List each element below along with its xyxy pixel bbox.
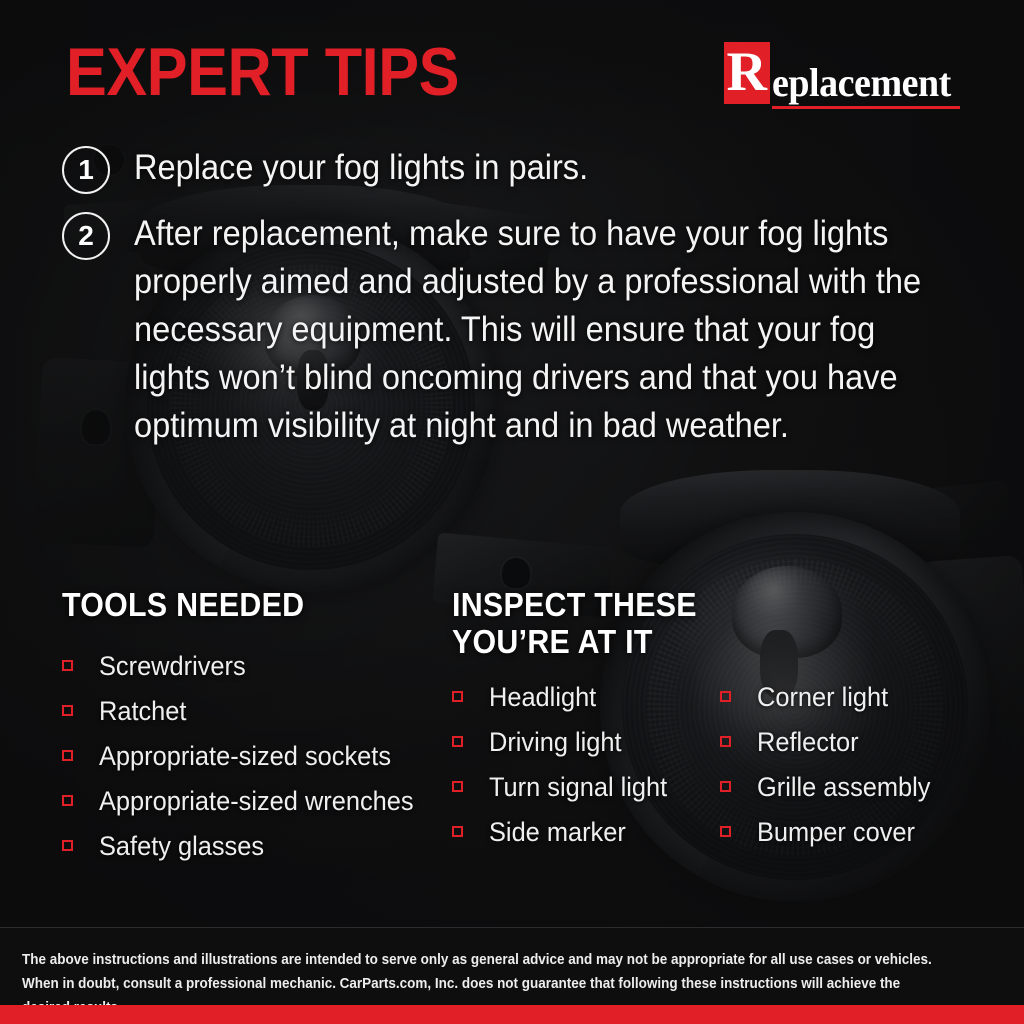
list-item-label: Bumper cover [757, 817, 915, 847]
list-item-label: Appropriate-sized wrenches [99, 786, 414, 816]
tip-number-badge: 2 [62, 212, 110, 260]
checkbox-icon[interactable] [62, 840, 73, 851]
list-item[interactable]: Driving light [452, 719, 720, 764]
list-item-label: Turn signal light [489, 772, 667, 802]
inspect-column-left: Headlight Driving light Turn signal ligh… [452, 674, 720, 854]
list-item[interactable]: Safety glasses [62, 823, 452, 868]
list-item-label: Ratchet [99, 696, 186, 726]
checkbox-icon[interactable] [62, 705, 73, 716]
checkbox-icon[interactable] [720, 826, 731, 837]
logo-underline [772, 106, 960, 109]
list-item[interactable]: Ratchet [62, 688, 452, 733]
logo-word-text: eplacement [772, 64, 951, 102]
list-item-label: Reflector [757, 727, 859, 757]
inspect-heading: INSPECT THESE YOU’RE AT IT [452, 586, 956, 660]
inspect-these-section: INSPECT THESE YOU’RE AT IT Headlight Dri… [452, 586, 1000, 868]
checkbox-icon[interactable] [452, 691, 463, 702]
list-item-label: Headlight [489, 682, 596, 712]
list-item[interactable]: Grille assembly [720, 764, 988, 809]
checkbox-icon[interactable] [62, 660, 73, 671]
list-item[interactable]: Corner light [720, 674, 988, 719]
tips-list: 1 Replace your fog lights in pairs. 2 Af… [62, 144, 992, 466]
tools-checklist: Screwdrivers Ratchet Appropriate-sized s… [62, 643, 452, 868]
list-item[interactable]: Turn signal light [452, 764, 720, 809]
tip-item: 2 After replacement, make sure to have y… [62, 210, 992, 450]
list-item[interactable]: Side marker [452, 809, 720, 854]
tip-text: Replace your fog lights in pairs. [134, 144, 588, 192]
list-item[interactable]: Reflector [720, 719, 988, 764]
tip-number-badge: 1 [62, 146, 110, 194]
tools-needed-heading: TOOLS NEEDED [62, 586, 421, 623]
list-item[interactable]: Appropriate-sized wrenches [62, 778, 452, 823]
lower-sections: TOOLS NEEDED Screwdrivers Ratchet Approp… [62, 586, 1002, 868]
inspect-column-right: Corner light Reflector Grille assembly [720, 674, 988, 854]
checkbox-icon[interactable] [62, 795, 73, 806]
checkbox-icon[interactable] [452, 826, 463, 837]
footer-disclaimer: The above instructions and illustrations… [0, 927, 1024, 1005]
page-title: EXPERT TIPS [66, 38, 459, 106]
list-item-label: Corner light [757, 682, 888, 712]
logo-initial: R [724, 42, 770, 104]
checkbox-icon[interactable] [62, 750, 73, 761]
list-item-label: Side marker [489, 817, 626, 847]
inspect-heading-line2: YOU’RE AT IT [452, 623, 956, 660]
list-item[interactable]: Bumper cover [720, 809, 988, 854]
list-item[interactable]: Appropriate-sized sockets [62, 733, 452, 778]
list-item[interactable]: Screwdrivers [62, 643, 452, 688]
checkbox-icon[interactable] [720, 691, 731, 702]
checkbox-icon[interactable] [720, 736, 731, 747]
header: EXPERT TIPS R eplacement [0, 0, 1024, 130]
list-item-label: Driving light [489, 727, 622, 757]
replacement-logo: R eplacement [724, 42, 960, 106]
logo-wordmark: eplacement [772, 64, 960, 106]
checkbox-icon[interactable] [452, 736, 463, 747]
inspect-heading-line1: INSPECT THESE [452, 586, 956, 623]
inspect-checklist: Headlight Driving light Turn signal ligh… [452, 674, 1000, 854]
tip-item: 1 Replace your fog lights in pairs. [62, 144, 992, 194]
list-item[interactable]: Headlight [452, 674, 720, 719]
tools-needed-section: TOOLS NEEDED Screwdrivers Ratchet Approp… [62, 586, 452, 868]
list-item-label: Screwdrivers [99, 651, 246, 681]
checkbox-icon[interactable] [720, 781, 731, 792]
list-item-label: Appropriate-sized sockets [99, 741, 391, 771]
list-item-label: Safety glasses [99, 831, 264, 861]
bottom-accent-bar [0, 1005, 1024, 1024]
expert-tips-infographic: EXPERT TIPS R eplacement 1 Replace your … [0, 0, 1024, 1024]
checkbox-icon[interactable] [452, 781, 463, 792]
tip-text: After replacement, make sure to have you… [134, 210, 932, 450]
list-item-label: Grille assembly [757, 772, 930, 802]
